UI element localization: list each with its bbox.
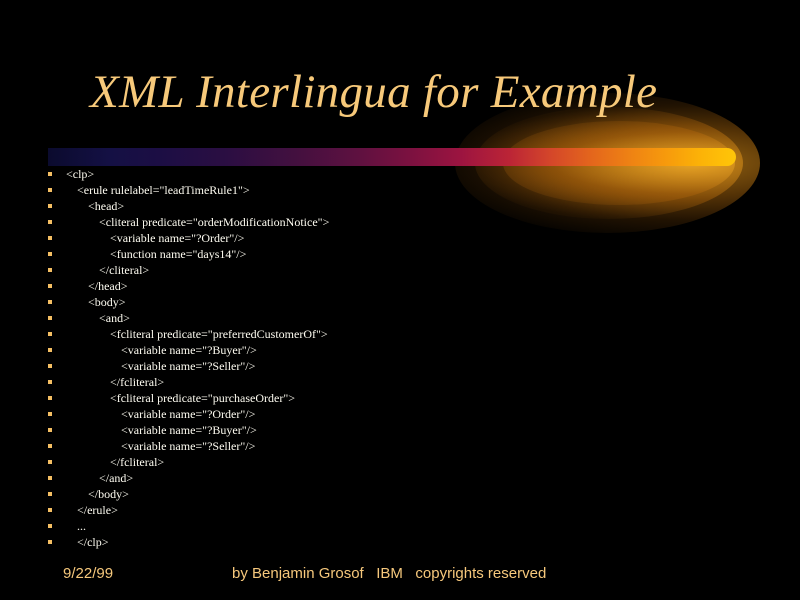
square-bullet-icon [48, 172, 52, 176]
bullet-list-item: </fcliteral> [44, 374, 784, 390]
bullet-list-item-text: <function name="days14"/> [66, 246, 246, 262]
square-bullet-icon [48, 284, 52, 288]
square-bullet-icon [48, 220, 52, 224]
square-bullet-icon [48, 492, 52, 496]
square-bullet-icon [48, 364, 52, 368]
square-bullet-icon [48, 252, 52, 256]
bullet-list-item: <variable name="?Order"/> [44, 406, 784, 422]
bullet-list-item: <fcliteral predicate="purchaseOrder"> [44, 390, 784, 406]
slide-canvas: XML Interlingua for Example <clp><erule … [0, 0, 800, 600]
bullet-list-item: <clp> [44, 166, 784, 182]
slide-title: XML Interlingua for Example [90, 66, 750, 118]
bullet-list-item: <variable name="?Seller"/> [44, 438, 784, 454]
bullet-list-item: <fcliteral predicate="preferredCustomerO… [44, 326, 784, 342]
square-bullet-icon [48, 380, 52, 384]
bullet-list-item-text: <head> [66, 198, 124, 214]
bullet-list-item-text: <fcliteral predicate="preferredCustomerO… [66, 326, 328, 342]
bullet-list-item-text: <variable name="?Buyer"/> [66, 342, 257, 358]
bullet-list-item-text: <erule rulelabel="leadTimeRule1"> [66, 182, 250, 198]
square-bullet-icon [48, 348, 52, 352]
bullet-list-item-text: <body> [66, 294, 126, 310]
bullet-list-item-text: <variable name="?Order"/> [66, 406, 255, 422]
bullet-list: <clp><erule rulelabel="leadTimeRule1"><h… [44, 166, 784, 550]
square-bullet-icon [48, 268, 52, 272]
bullet-list-item-text: <variable name="?Order"/> [66, 230, 244, 246]
square-bullet-icon [48, 204, 52, 208]
bullet-list-item-text: </and> [66, 470, 133, 486]
square-bullet-icon [48, 508, 52, 512]
bullet-list-item: <variable name="?Buyer"/> [44, 422, 784, 438]
bullet-list-item-text: <and> [66, 310, 130, 326]
square-bullet-icon [48, 332, 52, 336]
square-bullet-icon [48, 412, 52, 416]
square-bullet-icon [48, 460, 52, 464]
bullet-list-item-text: </fcliteral> [66, 374, 164, 390]
bullet-list-item: </head> [44, 278, 784, 294]
title-accent-bar [48, 148, 736, 166]
bullet-list-item: <erule rulelabel="leadTimeRule1"> [44, 182, 784, 198]
square-bullet-icon [48, 444, 52, 448]
bullet-list-item-text: </clp> [66, 534, 109, 550]
square-bullet-icon [48, 236, 52, 240]
bullet-list-item-text: </cliteral> [66, 262, 149, 278]
bullet-list-item: <variable name="?Seller"/> [44, 358, 784, 374]
footer-date: 9/22/99 [63, 565, 113, 583]
square-bullet-icon [48, 524, 52, 528]
bullet-list-item-text: <clp> [66, 166, 94, 182]
square-bullet-icon [48, 300, 52, 304]
bullet-list-item: </cliteral> [44, 262, 784, 278]
bullet-list-item-text: <variable name="?Seller"/> [66, 438, 255, 454]
footer-credit: by Benjamin Grosof IBM copyrights reserv… [232, 565, 546, 583]
bullet-list-item-text: ... [66, 518, 86, 534]
bullet-list-item: <variable name="?Buyer"/> [44, 342, 784, 358]
bullet-list-item: </body> [44, 486, 784, 502]
bullet-list-item-text: </fcliteral> [66, 454, 164, 470]
bullet-list-item: </clp> [44, 534, 784, 550]
bullet-list-item-text: <fcliteral predicate="purchaseOrder"> [66, 390, 295, 406]
bullet-list-item: <variable name="?Order"/> [44, 230, 784, 246]
bullet-list-item: </fcliteral> [44, 454, 784, 470]
bullet-list-item: <body> [44, 294, 784, 310]
square-bullet-icon [48, 188, 52, 192]
square-bullet-icon [48, 396, 52, 400]
bullet-list-item-text: <variable name="?Buyer"/> [66, 422, 257, 438]
bullet-list-item-text: </body> [66, 486, 129, 502]
bullet-list-item: <cliteral predicate="orderModificationNo… [44, 214, 784, 230]
square-bullet-icon [48, 316, 52, 320]
square-bullet-icon [48, 540, 52, 544]
bullet-list-item: </and> [44, 470, 784, 486]
bullet-list-item: <function name="days14"/> [44, 246, 784, 262]
bullet-list-item-text: <variable name="?Seller"/> [66, 358, 255, 374]
square-bullet-icon [48, 476, 52, 480]
bullet-list-item: ... [44, 518, 784, 534]
bullet-list-item-text: </head> [66, 278, 128, 294]
bullet-list-item-text: </erule> [66, 502, 118, 518]
bullet-list-item: <and> [44, 310, 784, 326]
square-bullet-icon [48, 428, 52, 432]
bullet-list-item: </erule> [44, 502, 784, 518]
bullet-list-item: <head> [44, 198, 784, 214]
bullet-list-item-text: <cliteral predicate="orderModificationNo… [66, 214, 329, 230]
